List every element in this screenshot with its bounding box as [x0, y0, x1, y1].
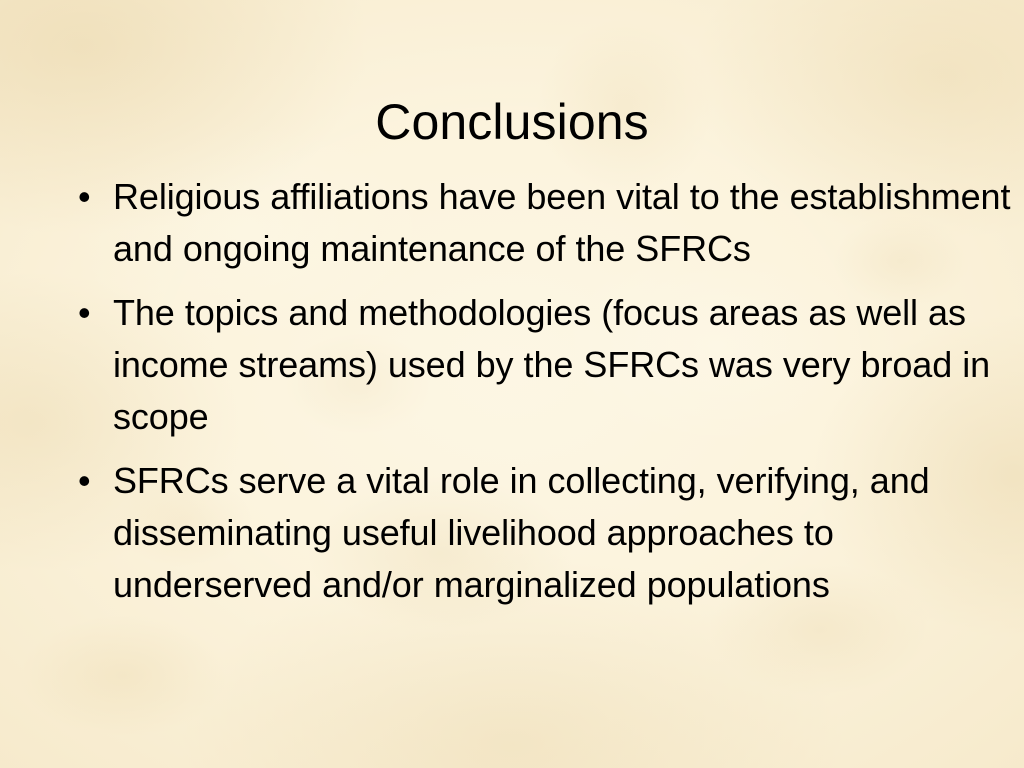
- bullet-item-1: • Religious affiliations have been vital…: [74, 171, 1024, 275]
- bullet-list: • Religious affiliations have been vital…: [34, 171, 1024, 611]
- bullet-item-text: The topics and methodologies (focus area…: [113, 287, 1024, 443]
- bullet-point-icon: •: [78, 455, 100, 507]
- presentation-slide: Conclusions • Religious affiliations hav…: [0, 0, 1024, 768]
- slide-title: Conclusions: [0, 92, 1024, 152]
- bullet-item-3: • SFRCs serve a vital role in collecting…: [74, 455, 1024, 611]
- bullet-item-text: Religious affiliations have been vital t…: [113, 171, 1024, 275]
- slide-content: Conclusions • Religious affiliations hav…: [0, 0, 1024, 768]
- bullet-point-icon: •: [78, 287, 100, 339]
- bullet-item-text: SFRCs serve a vital role in collecting, …: [113, 455, 1024, 611]
- bullet-point-icon: •: [78, 171, 100, 223]
- bullet-item-2: • The topics and methodologies (focus ar…: [74, 287, 1024, 443]
